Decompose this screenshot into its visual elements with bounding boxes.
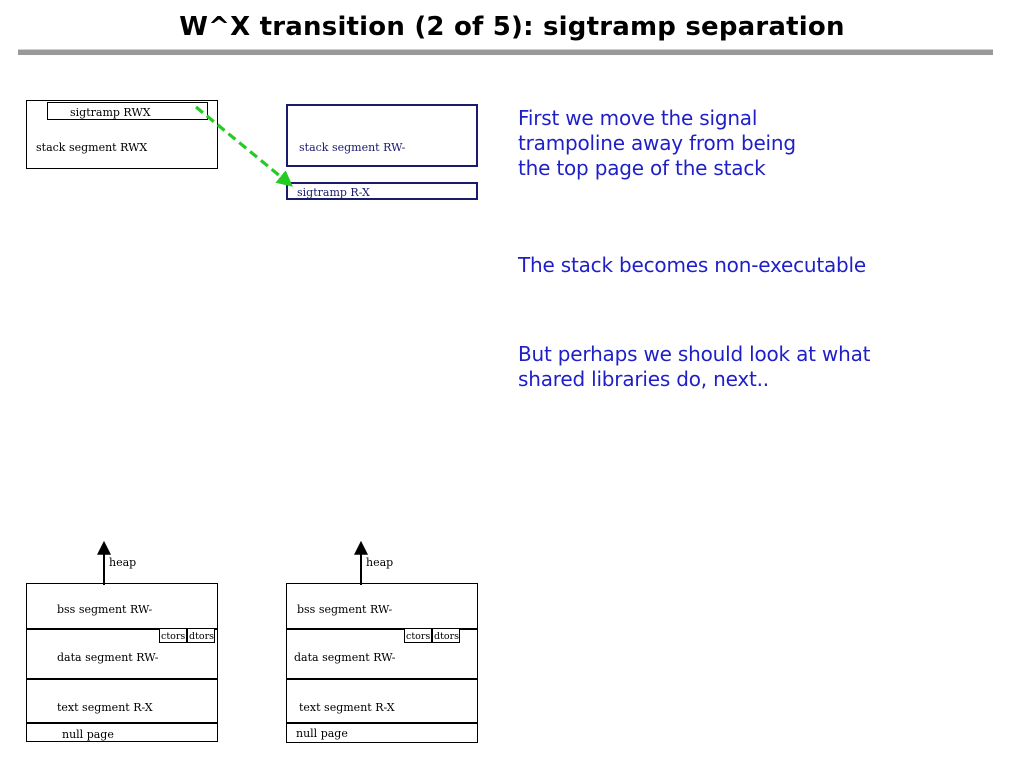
- memory-left-dtors-label: dtors: [189, 632, 214, 642]
- note-paragraph-2: The stack becomes non-executable: [518, 253, 866, 278]
- memory-right-dtors-label: dtors: [434, 632, 459, 642]
- title-divider: [18, 49, 993, 55]
- memory-right-text-label: text segment R-X: [299, 702, 395, 713]
- memory-right-bss-label: bss segment RW-: [297, 604, 392, 615]
- note-paragraph-3: But perhaps we should look at what share…: [518, 342, 870, 392]
- heap-label-left: heap: [109, 557, 136, 568]
- note-paragraph-1: First we move the signal trampoline away…: [518, 106, 796, 181]
- sigtramp-rx-label: sigtramp R-X: [297, 187, 370, 198]
- page-title: W^X transition (2 of 5): sigtramp separa…: [0, 12, 1024, 42]
- memory-right-data-label: data segment RW-: [294, 652, 395, 663]
- memory-left-data-label: data segment RW-: [57, 652, 158, 663]
- memory-right-ctors-label: ctors: [406, 632, 430, 642]
- heap-label-right: heap: [366, 557, 393, 568]
- memory-right-null-label: null page: [296, 728, 348, 739]
- stack-segment-rwx-label: stack segment RWX: [36, 142, 147, 153]
- memory-left-ctors-label: ctors: [161, 632, 185, 642]
- stack-after-outer-box: [286, 104, 478, 167]
- memory-left-null-row: [26, 723, 218, 742]
- stack-segment-rw-label: stack segment RW-: [299, 142, 405, 153]
- memory-left-null-label: null page: [62, 729, 114, 740]
- memory-left-bss-label: bss segment RW-: [57, 604, 152, 615]
- sigtramp-rwx-label: sigtramp RWX: [70, 107, 151, 118]
- memory-left-text-label: text segment R-X: [57, 702, 153, 713]
